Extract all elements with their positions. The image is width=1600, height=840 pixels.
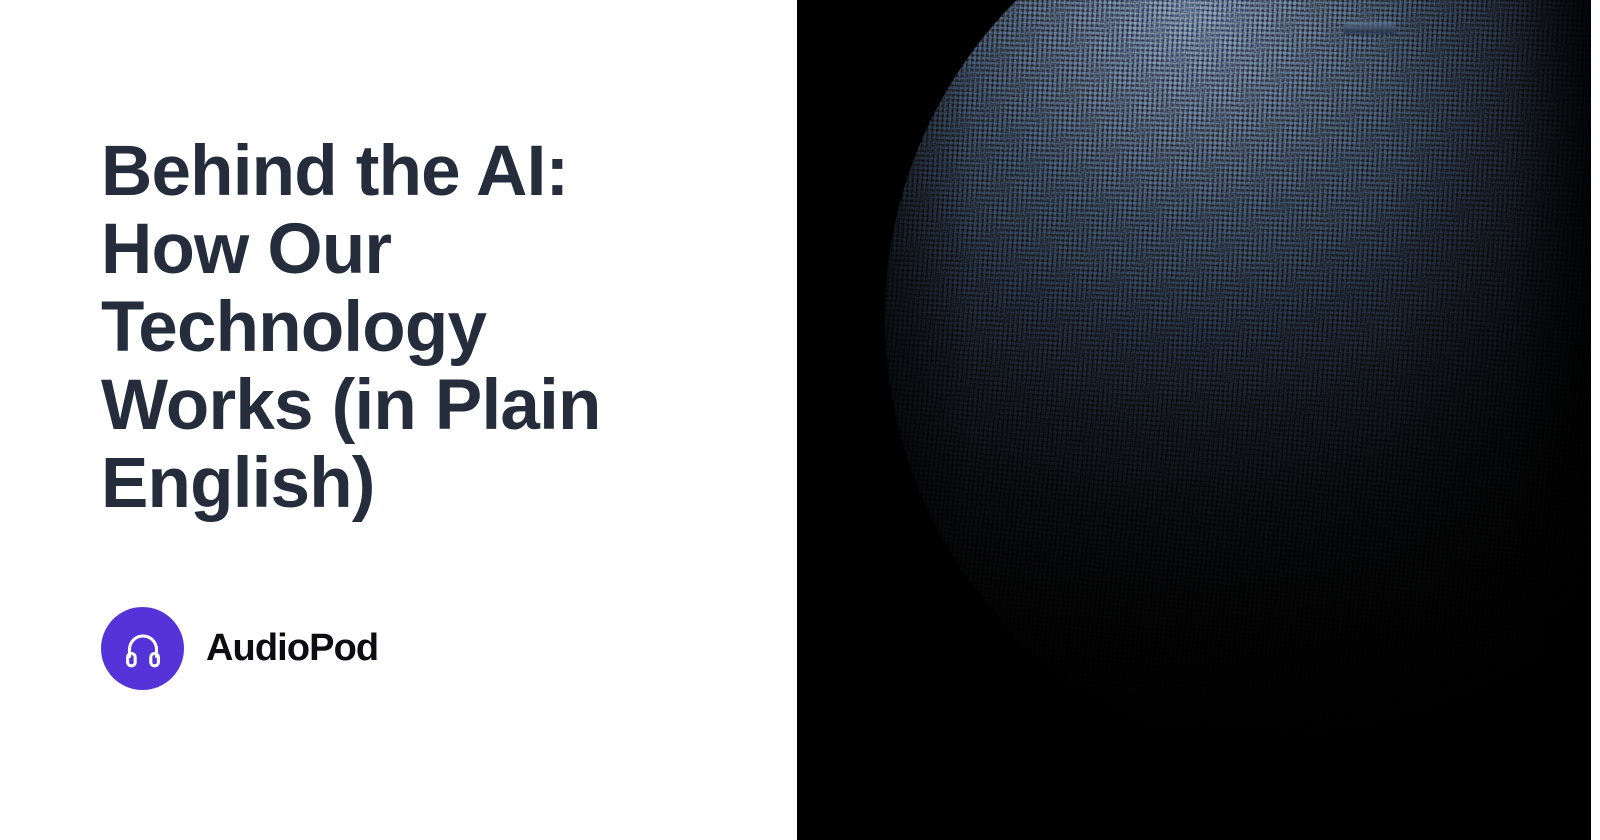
smart-speaker-icon [885, 0, 1591, 768]
speaker-shading [883, 0, 1591, 770]
image-panel [797, 0, 1600, 840]
article-hero-card: Behind the AI: How Our Technology Works … [0, 0, 1600, 840]
speaker-top-notch [1343, 22, 1397, 34]
brand-name: AudioPod [206, 627, 378, 670]
brand-lockup[interactable]: AudioPod [101, 607, 378, 690]
brand-logo[interactable] [101, 607, 184, 690]
text-panel: Behind the AI: How Our Technology Works … [0, 0, 797, 840]
page-title: Behind the AI: How Our Technology Works … [101, 133, 701, 523]
hero-photo [797, 0, 1591, 840]
headphones-icon [120, 626, 166, 672]
